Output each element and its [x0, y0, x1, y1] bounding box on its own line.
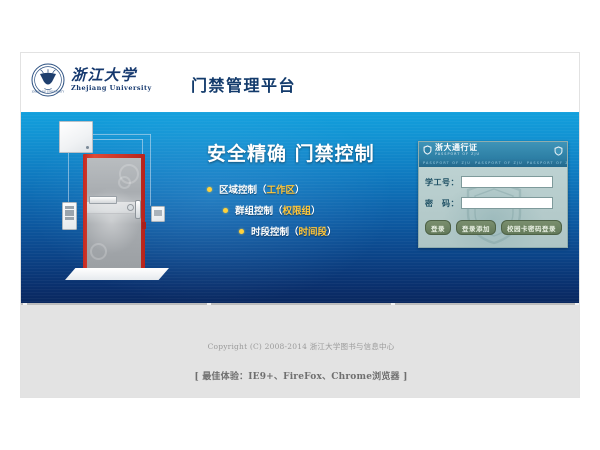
floor-platform — [65, 268, 169, 280]
bullet-text: 群组控制（ — [235, 203, 283, 217]
login-title-group: 浙大通行证 PASSPORT OF ZJU — [435, 144, 480, 156]
card-reader — [151, 206, 165, 222]
nub — [391, 303, 395, 305]
login-panel-strip: PASSPORT OF ZJU PASSPORT OF ZJU PASSPORT… — [419, 158, 567, 167]
footer-copyright: Copyright (C) 2008-2014 浙江大学图书与信息中心 — [21, 341, 580, 352]
list-item: 群组控制（ 权限组 ） — [207, 203, 417, 217]
wire-door-top-drop — [150, 134, 152, 206]
bullet-dot-icon — [239, 229, 244, 234]
nub — [575, 303, 579, 305]
form-row-username: 学工号： — [419, 176, 567, 188]
keypad-grid-icon — [65, 206, 74, 220]
bullet-text: 区域控制（ — [219, 182, 267, 196]
zju-seal-icon: ZHEJIANG UNIVERSITY — [31, 63, 65, 97]
logo-name-cn: 浙江大学 — [71, 68, 152, 84]
bullet-dot-icon — [223, 208, 228, 213]
bullet-text: 时段控制（ — [251, 224, 299, 238]
bullet-tail: ） — [311, 203, 321, 217]
username-label: 学工号： — [425, 177, 461, 188]
form-row-password: 密 码： — [419, 197, 567, 209]
gear-icon — [90, 243, 107, 260]
controller-box — [59, 121, 93, 153]
shield-icon — [554, 146, 563, 156]
username-input[interactable] — [461, 176, 553, 188]
door-knob — [127, 204, 134, 211]
shield-watermark-icon — [465, 179, 523, 245]
login-panel-title: 浙大通行证 — [435, 144, 480, 152]
site-header: ZHEJIANG UNIVERSITY 浙江大学 Zhejiang Univer… — [21, 53, 580, 112]
wire-controller-to-keypad — [68, 151, 70, 202]
strip-text: PASSPORT OF ZJU — [419, 161, 471, 165]
banner-headline: 安全精确 门禁控制 — [207, 139, 417, 166]
list-item: 时段控制（ 时间段 ） — [207, 224, 417, 238]
bullet-tail: ） — [295, 182, 305, 196]
card-reader-slot-icon — [154, 210, 162, 216]
svg-text:ZHEJIANG UNIVERSITY: ZHEJIANG UNIVERSITY — [32, 90, 65, 94]
door-leaf — [87, 158, 141, 272]
page-title: 门禁管理平台 — [191, 72, 296, 96]
wire-controller-to-door — [91, 134, 151, 136]
bullet-accent: 工作区 — [267, 182, 296, 196]
access-control-door-illustration — [43, 116, 193, 298]
login-button-row: 登录 登录添加 校园卡密码登录 — [419, 220, 567, 235]
keypad-reader — [62, 202, 77, 230]
login-panel-subtitle: PASSPORT OF ZJU — [435, 153, 480, 156]
footer-browser-support: [ 最佳体验：IE9+、FireFox、Chrome浏览器 ] — [21, 369, 580, 382]
door-strike-plate — [142, 222, 146, 229]
bullet-tail: ） — [327, 224, 337, 238]
controller-led-icon — [86, 146, 89, 149]
nub — [23, 303, 27, 305]
university-logo[interactable]: ZHEJIANG UNIVERSITY 浙江大学 Zhejiang Univer… — [31, 63, 152, 97]
login-button[interactable]: 登录 — [425, 220, 451, 235]
shield-icon — [423, 145, 432, 155]
login-add-button[interactable]: 登录添加 — [456, 220, 496, 235]
bullet-accent: 时间段 — [299, 224, 328, 238]
login-panel-header: 浙大通行证 PASSPORT OF ZJU — [419, 142, 567, 158]
password-label: 密 码： — [425, 198, 461, 209]
campus-card-login-button[interactable]: 校园卡密码登录 — [501, 220, 562, 235]
logo-name-en: Zhejiang University — [71, 84, 152, 92]
bullet-dot-icon — [207, 187, 212, 192]
login-panel: 浙大通行证 PASSPORT OF ZJU PASSPORT OF ZJU PA… — [418, 141, 568, 248]
list-item: 区域控制（ 工作区 ） — [207, 182, 417, 196]
banner-slogan-block: 安全精确 门禁控制 区域控制（ 工作区 ） 群组控制（ 权限组 ） 时段控制（ — [207, 139, 417, 254]
login-header-right — [554, 141, 563, 160]
door-closer-arm — [89, 196, 117, 204]
wire-controller-to-reader — [91, 139, 143, 141]
gear-icon — [118, 176, 131, 189]
door-handle — [135, 200, 141, 219]
bullet-accent: 权限组 — [283, 203, 312, 217]
hero-banner: 安全精确 门禁控制 区域控制（ 工作区 ） 群组控制（ 权限组 ） 时段控制（ — [21, 112, 580, 303]
login-form: 学工号： 密 码： 登录 登录添加 校园卡密码登录 — [419, 167, 567, 247]
strip-text: PASSPORT OF ZJU — [471, 161, 523, 165]
site-footer: Copyright (C) 2008-2014 浙江大学图书与信息中心 [ 最佳… — [21, 303, 580, 398]
feature-bullet-list: 区域控制（ 工作区 ） 群组控制（ 权限组 ） 时段控制（ 时间段 ） — [207, 182, 417, 238]
strip-text: PASSPORT OF ZJU — [523, 161, 567, 165]
footer-top-nubs — [21, 303, 580, 305]
nub — [207, 303, 211, 305]
password-input[interactable] — [461, 197, 553, 209]
logo-wordmark: 浙江大学 Zhejiang University — [71, 68, 152, 93]
page-container: ZHEJIANG UNIVERSITY 浙江大学 Zhejiang Univer… — [20, 52, 580, 398]
